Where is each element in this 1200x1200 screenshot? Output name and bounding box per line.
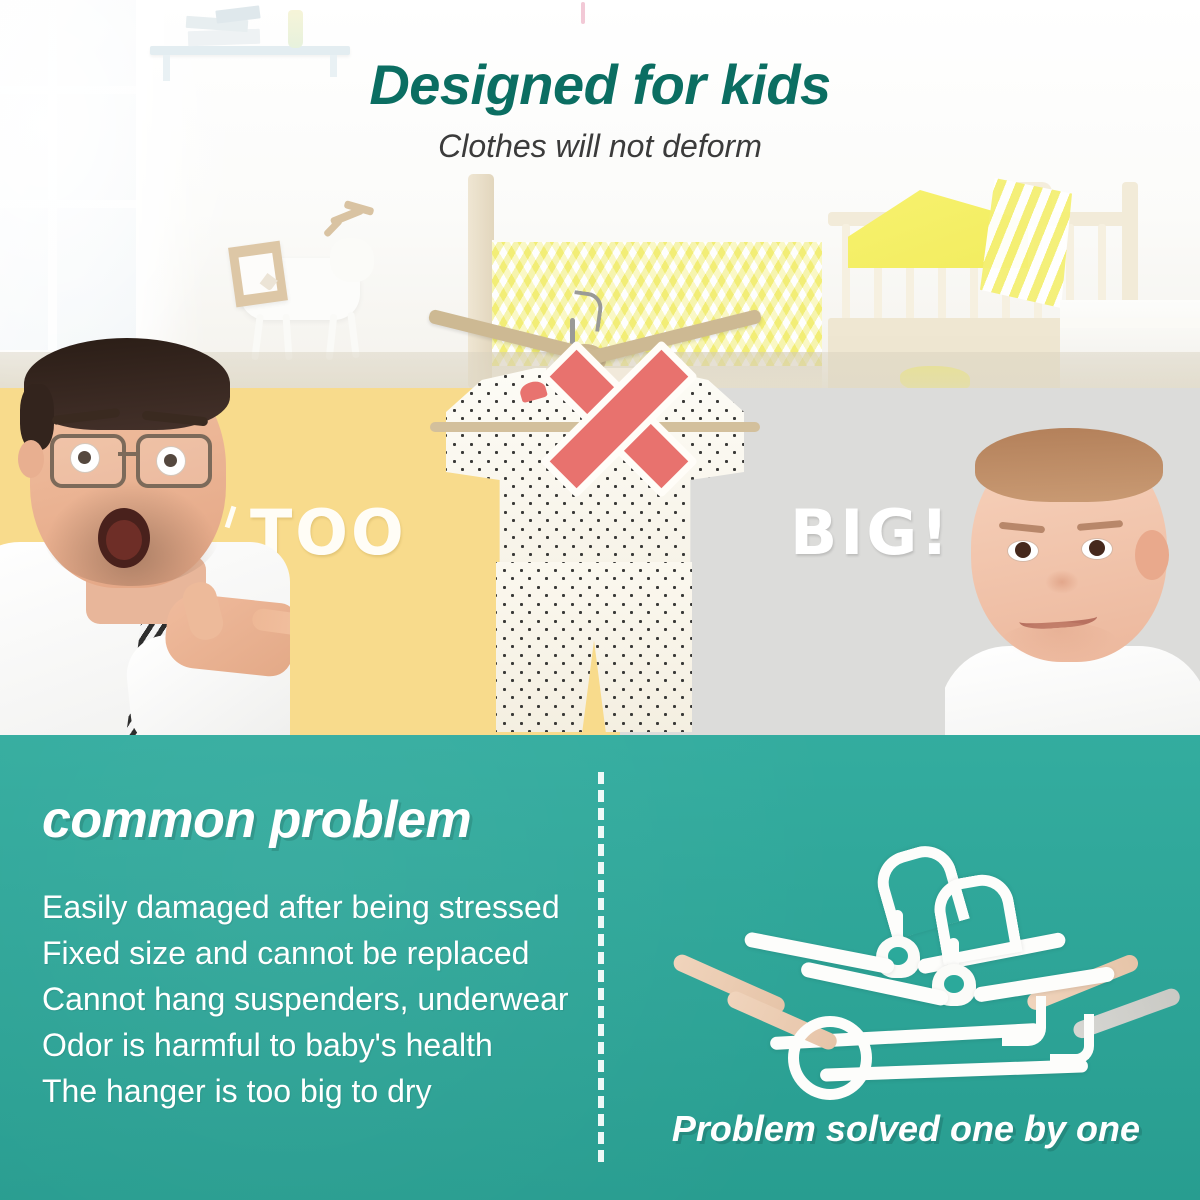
baby-pupil-right [1089, 540, 1105, 556]
dashed-divider [598, 772, 604, 1162]
red-cross-icon [536, 336, 688, 488]
glasses-lens-right [136, 434, 212, 488]
baby-chin [1001, 622, 1117, 662]
vase-flower-stem [581, 2, 585, 24]
hanger-notch-1 [1002, 996, 1046, 1046]
list-item: Fixed size and cannot be replaced [42, 930, 602, 976]
oversized-garment-group [420, 290, 770, 735]
list-item: Cannot hang suspenders, underwear [42, 976, 602, 1022]
shelf-vase [288, 10, 303, 48]
baby-hangers-illustration [630, 748, 1190, 1098]
surprised-man-photo [0, 330, 290, 735]
common-problem-heading: common problem [42, 790, 471, 850]
big-label: BIG! [790, 496, 952, 569]
shelf-book-1 [188, 29, 260, 47]
list-item: Odor is harmful to baby's health [42, 1022, 602, 1068]
glasses-bridge [118, 452, 136, 456]
solved-caption: Problem solved one by one [0, 1108, 1200, 1150]
page-title: Designed for kids [0, 52, 1200, 117]
list-item: Easily damaged after being stressed [42, 884, 602, 930]
man-mouth-inner [106, 520, 142, 560]
hanger-notch-2 [1050, 1014, 1094, 1064]
product-infographic: Designed for kids Clothes will not defor… [0, 0, 1200, 1200]
glasses-icon [32, 434, 230, 484]
baby-nose [1045, 570, 1079, 594]
page-subtitle: Clothes will not deform [0, 128, 1200, 165]
hanger-knot-hole [944, 975, 964, 993]
wall-skirting-trim [1060, 318, 1200, 328]
pajama-pants [496, 562, 692, 732]
deer-head [330, 238, 374, 282]
man-hand [162, 592, 290, 679]
frame-inner [239, 253, 278, 295]
baby-hair [975, 428, 1163, 502]
crib-striped-blanket [980, 178, 1072, 308]
glasses-lens-left [50, 434, 126, 488]
baby-pupil-left [1015, 542, 1031, 558]
problem-list: Easily damaged after being stressed Fixe… [42, 884, 602, 1114]
wooden-picture-frame [228, 241, 288, 308]
heart-icon [260, 273, 278, 291]
hanger-ring-left [788, 1016, 872, 1100]
baby-ear [1135, 530, 1169, 580]
sad-baby-photo [945, 424, 1200, 735]
